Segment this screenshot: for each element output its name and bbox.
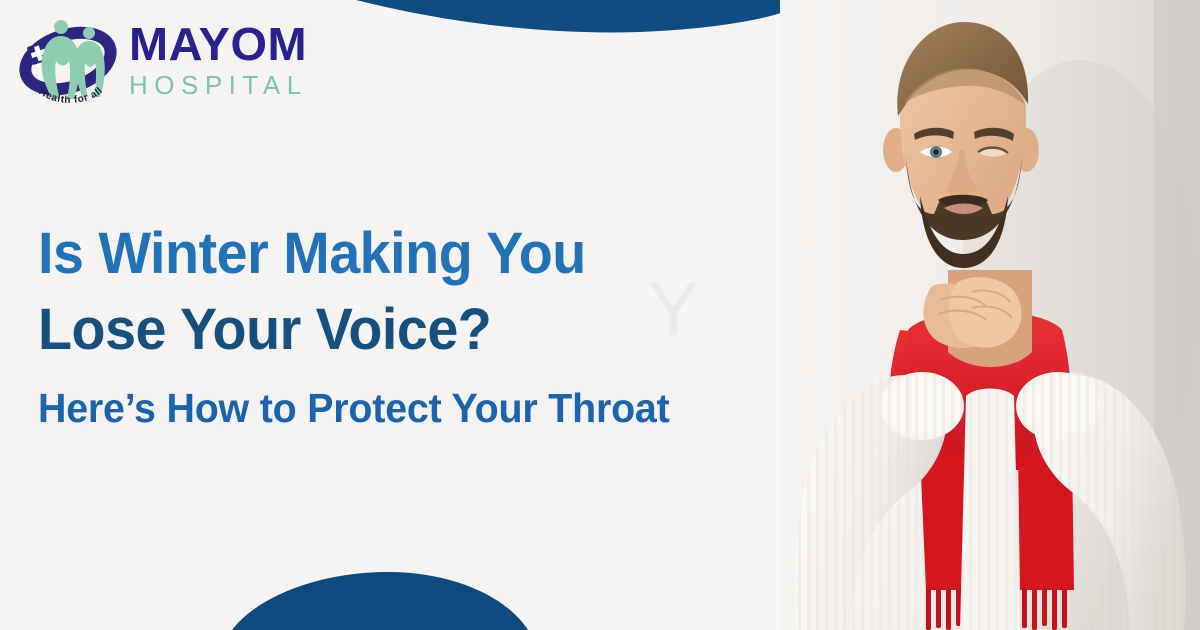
man-sore-throat-illustration — [780, 0, 1200, 630]
headline-block: Is Winter Making You Lose Your Voice? He… — [38, 216, 828, 436]
promo-banner: Health for all MAYOM HOSPITAL Y Is Winte… — [0, 0, 1200, 630]
subheadline: Here’s How to Protect Your Throat — [38, 380, 796, 436]
page-title: Is Winter Making You Lose Your Voice? — [38, 216, 796, 368]
brand-logo[interactable]: Health for all MAYOM HOSPITAL — [16, 13, 308, 110]
hero-photo — [780, 0, 1200, 630]
brand-name: MAYOM — [129, 21, 311, 67]
brand-subtitle: HOSPITAL — [129, 72, 308, 98]
mayom-hospital-logo-mark: Health for all — [16, 13, 120, 110]
headline-line-1: Is Winter Making You — [38, 216, 796, 292]
headline-line-2: Lose Your Voice? — [38, 292, 796, 368]
